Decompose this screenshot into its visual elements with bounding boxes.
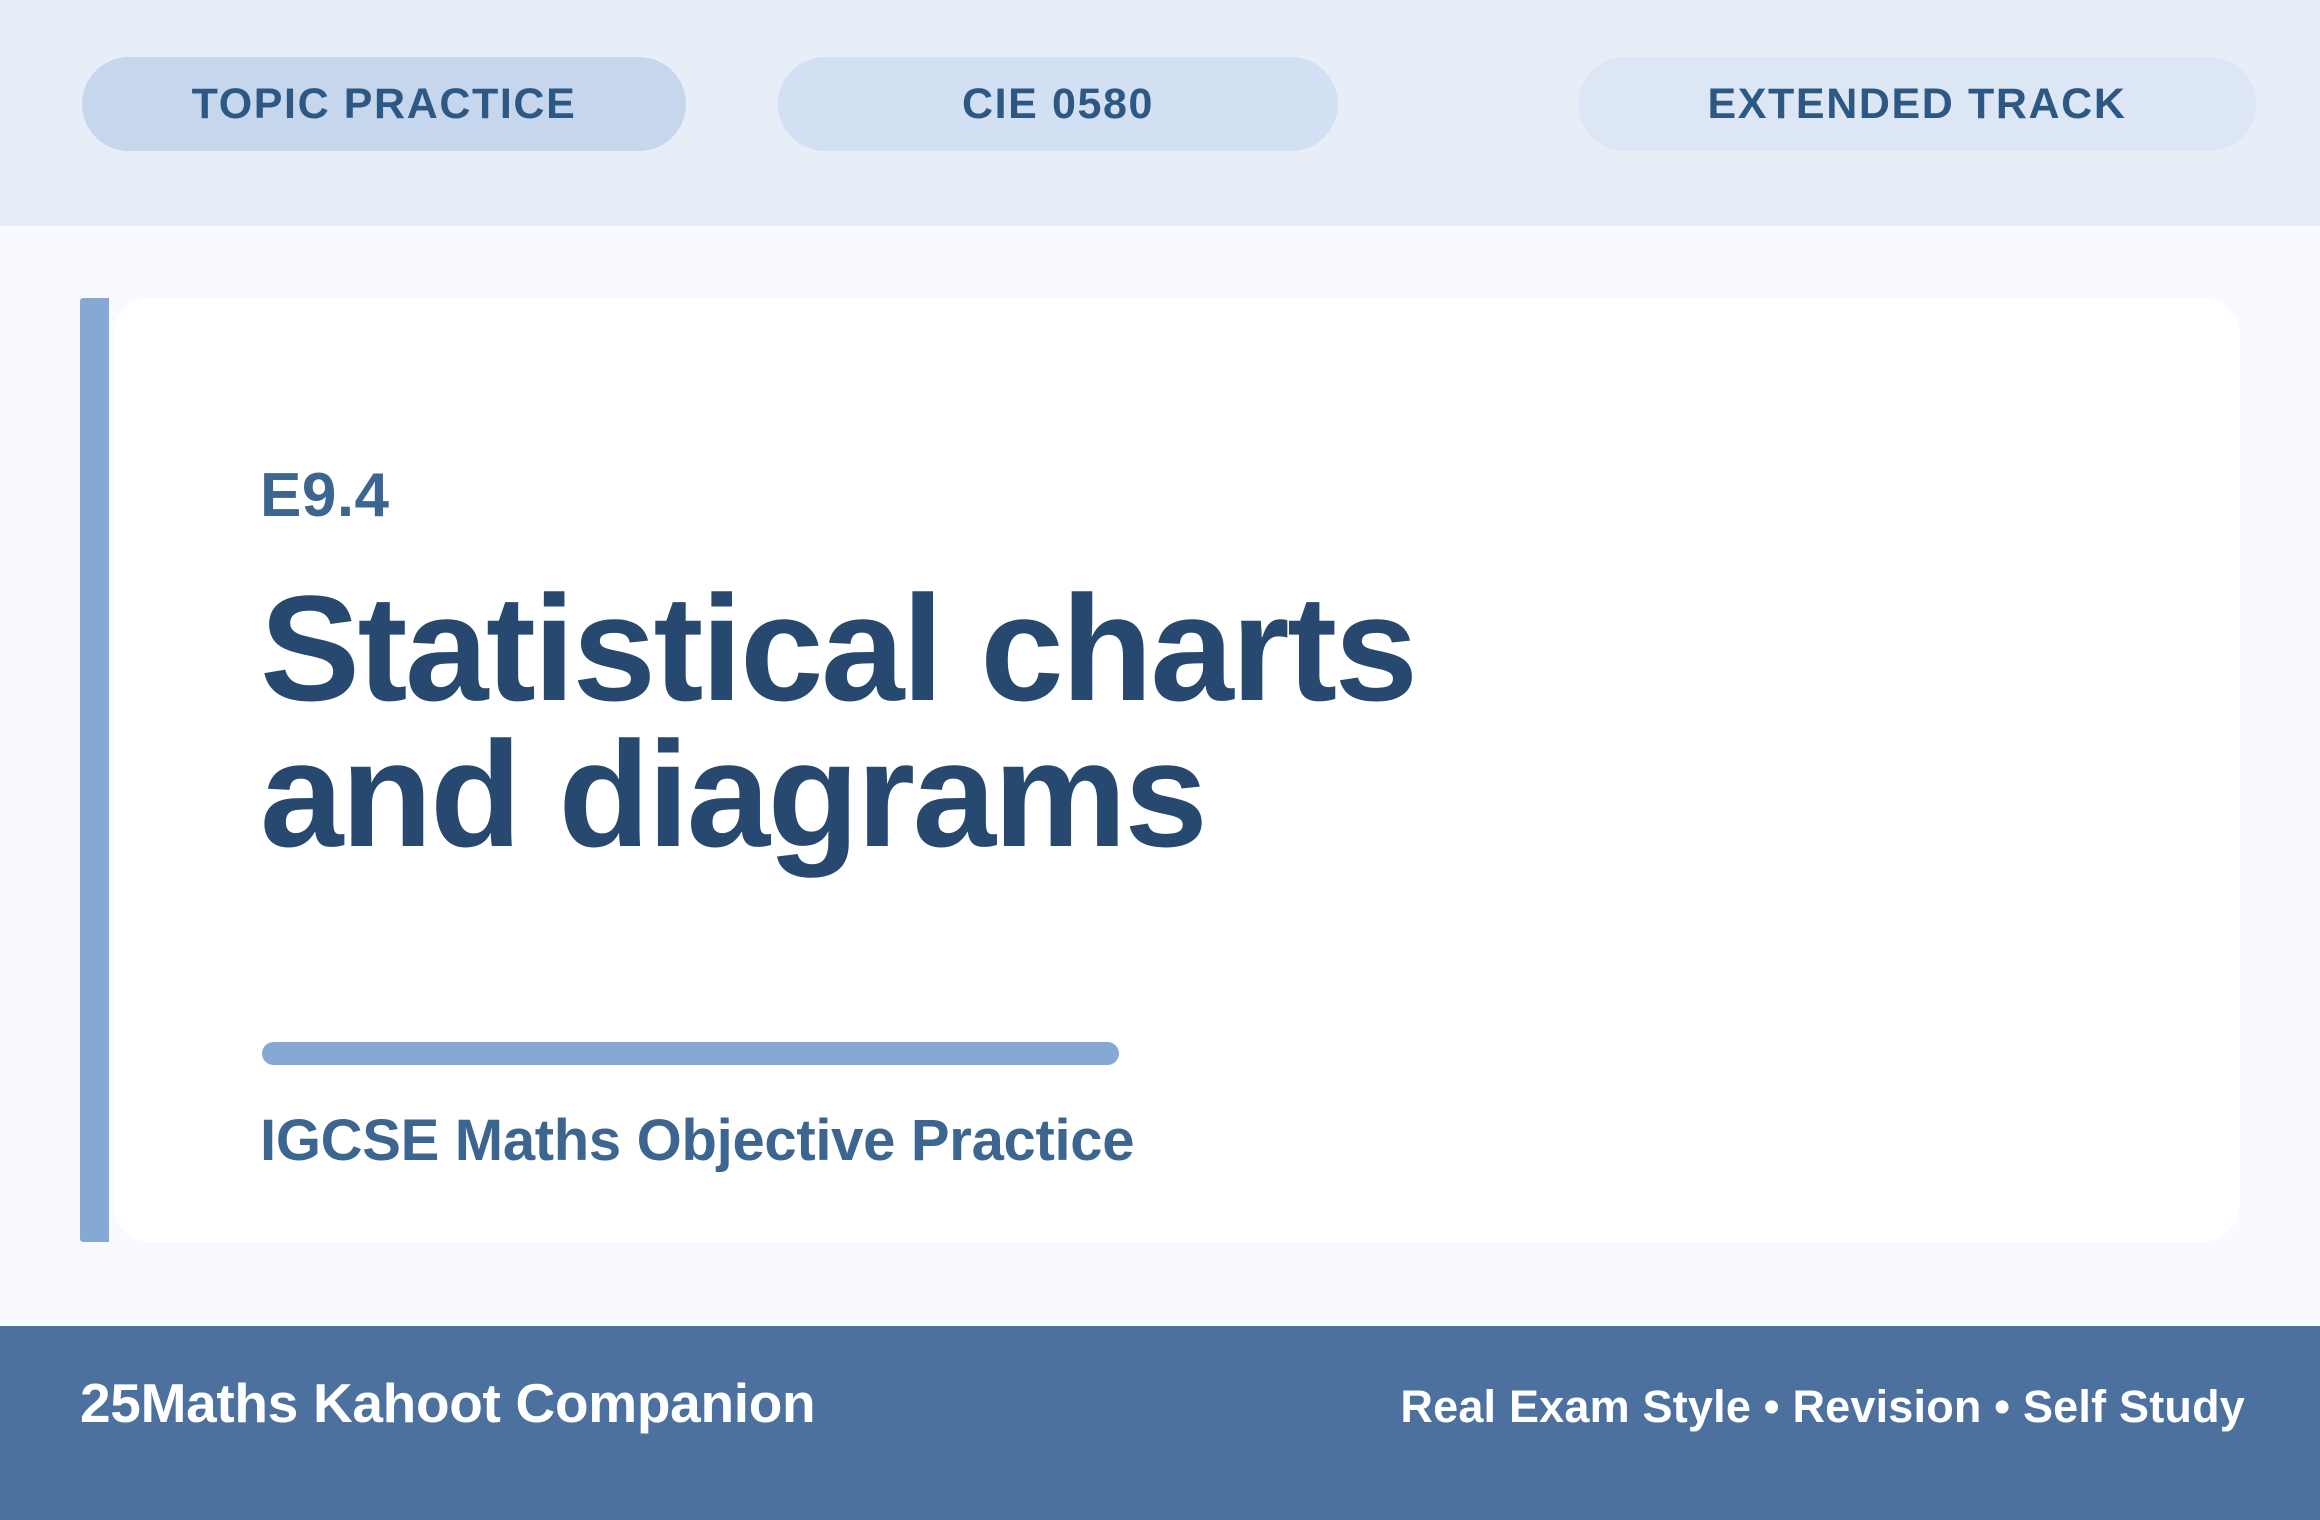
badge-syllabus-code[interactable]: CIE 0580	[778, 57, 1338, 151]
badge-syllabus-code-label: CIE 0580	[962, 80, 1154, 129]
card-surface: E9.4 Statistical charts and diagrams IGC…	[113, 298, 2240, 1242]
badge-topic-practice-label: TOPIC PRACTICE	[192, 80, 577, 129]
card-content: E9.4 Statistical charts and diagrams IGC…	[260, 298, 2160, 1242]
page-title-line-2: and diagrams	[260, 722, 1980, 868]
card-accent-bar	[80, 298, 109, 1242]
footer-tagline: Real Exam Style • Revision • Self Study	[1400, 1384, 2245, 1429]
badge-extended-track[interactable]: EXTENDED TRACK	[1578, 57, 2256, 151]
footer-brand: 25Maths Kahoot Companion	[80, 1376, 815, 1431]
topic-code: E9.4	[260, 465, 390, 527]
topic-card: E9.4 Statistical charts and diagrams IGC…	[80, 298, 2240, 1242]
footer-bar: 25Maths Kahoot Companion Real Exam Style…	[0, 1326, 2320, 1520]
title-divider	[262, 1042, 1119, 1065]
page-title-line-1: Statistical charts	[260, 576, 1980, 722]
page-subtitle: IGCSE Maths Objective Practice	[260, 1112, 1134, 1170]
page-title: Statistical charts and diagrams	[260, 576, 1980, 867]
badge-topic-practice[interactable]: TOPIC PRACTICE	[82, 57, 686, 151]
badge-extended-track-label: EXTENDED TRACK	[1708, 80, 2127, 129]
header-band: TOPIC PRACTICE CIE 0580 EXTENDED TRACK	[0, 0, 2320, 226]
